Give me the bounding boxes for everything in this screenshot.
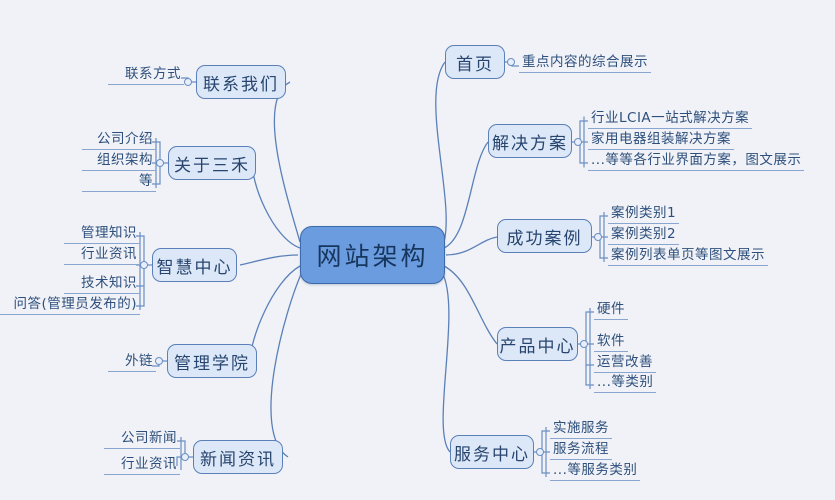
leaf-item[interactable]: 软件 [594, 333, 628, 352]
leaf-item[interactable]: 等 [82, 173, 156, 192]
leaf-item[interactable]: 实施服务 [550, 420, 612, 439]
leaf-item[interactable]: 问答(管理员发布的) [0, 296, 140, 315]
connector-dot [181, 453, 189, 461]
mindmap-canvas: 网站架构 首页 重点内容的综合展示 解决方案 行业LCIA一站式解决方案 家用电… [0, 0, 835, 500]
connector-dot [594, 233, 602, 241]
leaf-item[interactable]: 案例列表单页等图文展示 [608, 247, 768, 266]
branch-label: 产品中心 [500, 332, 576, 357]
branch-node-wisdom[interactable]: 智慧中心 [152, 248, 237, 282]
leaf-item[interactable]: 家用电器组装解决方案 [588, 131, 734, 150]
connector-dot [156, 159, 164, 167]
connector-dot [507, 58, 515, 66]
branch-node-about[interactable]: 关于三禾 [168, 146, 256, 180]
leaf-item[interactable]: 运营改善 [594, 354, 656, 373]
branch-label: 解决方案 [492, 129, 568, 154]
center-node-label: 网站架构 [316, 237, 428, 273]
connector-dot [140, 261, 148, 269]
branch-node-news[interactable]: 新闻资讯 [193, 440, 283, 474]
center-node[interactable]: 网站架构 [300, 226, 445, 284]
branch-node-cases[interactable]: 成功案例 [497, 219, 592, 253]
leaf-item[interactable]: ...等等各行业界面方案，图文展示 [588, 152, 804, 171]
branch-label: 首页 [456, 50, 494, 75]
branch-node-homepage[interactable]: 首页 [445, 45, 505, 79]
leaf-item[interactable]: 组织架构 [82, 152, 156, 171]
branch-label: 联系我们 [203, 70, 279, 95]
leaf-item[interactable]: 行业资讯 [104, 456, 180, 475]
branch-label: 新闻资讯 [200, 445, 276, 470]
connector-dot [574, 138, 582, 146]
leaf-item[interactable]: ...等服务类别 [550, 462, 640, 481]
leaf-item[interactable]: 管理知识 [64, 225, 140, 244]
connector-dot [536, 448, 544, 456]
leaf-item[interactable]: 服务流程 [550, 441, 612, 460]
branch-node-academy[interactable]: 管理学院 [167, 344, 257, 378]
branch-label: 智慧中心 [157, 253, 233, 278]
leaf-item[interactable]: 公司新闻 [104, 430, 180, 449]
branch-label: 服务中心 [454, 440, 530, 465]
branch-node-products[interactable]: 产品中心 [497, 327, 578, 361]
leaf-item[interactable]: 案例类别2 [608, 226, 679, 245]
connector-dot [184, 78, 192, 86]
leaf-item[interactable]: 行业资讯 [64, 246, 140, 265]
leaf-item[interactable]: 重点内容的综合展示 [519, 54, 651, 73]
connector-dot [580, 340, 588, 348]
leaf-item[interactable]: 联系方式 [108, 66, 184, 85]
branch-label: 成功案例 [507, 224, 583, 249]
branch-node-solutions[interactable]: 解决方案 [488, 124, 572, 158]
connector-dot [155, 357, 163, 365]
branch-label: 管理学院 [174, 349, 250, 374]
branch-node-service[interactable]: 服务中心 [450, 435, 534, 469]
branch-node-contact[interactable]: 联系我们 [196, 65, 286, 99]
leaf-item[interactable]: 案例类别1 [608, 205, 679, 224]
leaf-item[interactable]: ...等类别 [594, 374, 656, 393]
leaf-item[interactable]: 外链 [108, 353, 156, 372]
leaf-item[interactable]: 硬件 [594, 301, 628, 320]
leaf-item[interactable]: 公司介绍 [82, 131, 156, 150]
leaf-item[interactable]: 技术知识 [64, 275, 140, 294]
branch-label: 关于三禾 [174, 151, 250, 176]
leaf-item[interactable]: 行业LCIA一站式解决方案 [588, 110, 752, 129]
